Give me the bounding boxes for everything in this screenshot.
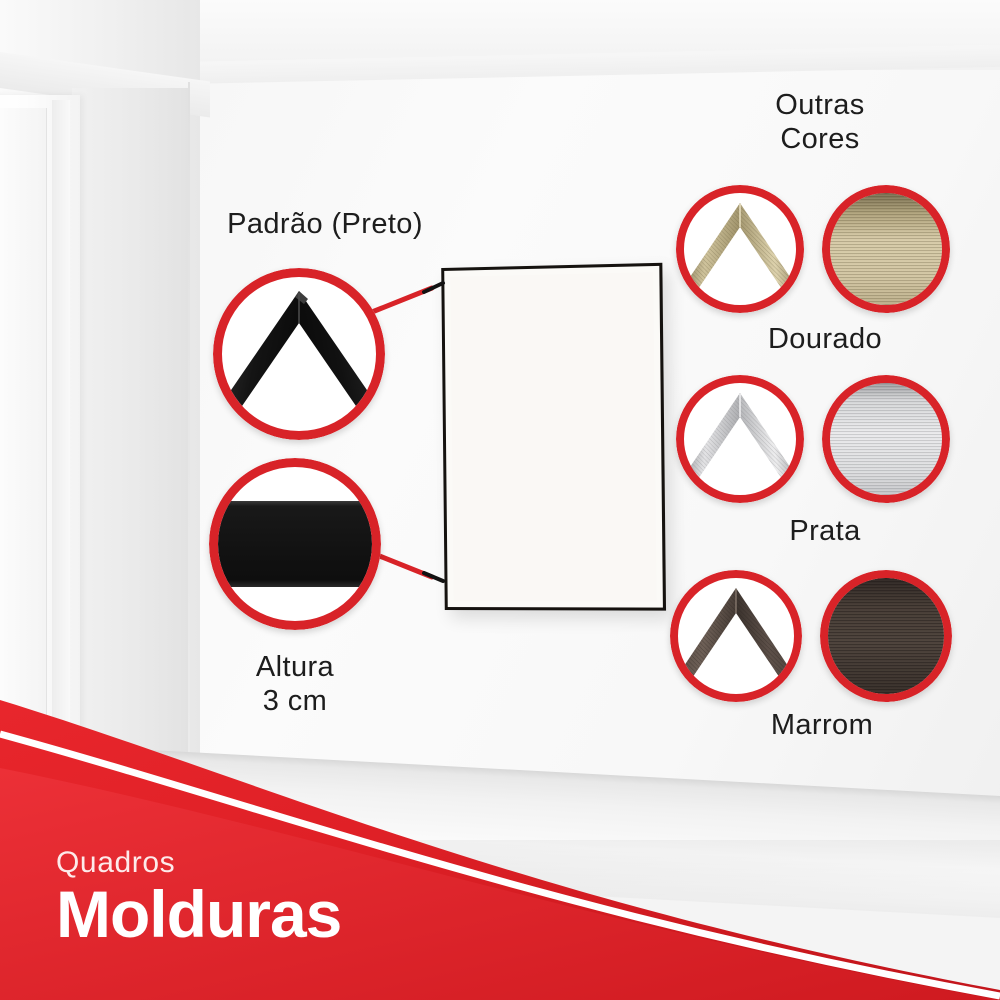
wall-picture-frame	[443, 268, 661, 610]
picture-frame-border	[441, 263, 666, 611]
label-dourado: Dourado	[695, 322, 955, 356]
prata-corner-art	[684, 383, 796, 495]
label-padrao-preto: Padrão (Preto)	[150, 207, 500, 241]
label-prata: Prata	[695, 514, 955, 548]
altura-profile-art	[218, 467, 372, 621]
altura-profile-swatch[interactable]	[209, 458, 381, 630]
label-outras-line2: Cores	[690, 122, 950, 156]
marrom-texture-swatch[interactable]	[820, 570, 952, 702]
altura-black-band	[218, 501, 372, 587]
infographic-canvas: Padrão (Preto) Altura 3 cm Outras Cores …	[0, 0, 1000, 1000]
marrom-texture-art	[828, 578, 944, 694]
label-outras-cores: Outras Cores	[690, 88, 950, 156]
padrao-preto-corner-swatch[interactable]	[213, 268, 385, 440]
prata-texture-swatch[interactable]	[822, 375, 950, 503]
dourado-corner-swatch[interactable]	[676, 185, 804, 313]
dourado-texture-swatch[interactable]	[822, 185, 950, 313]
dourado-texture-art	[830, 193, 942, 305]
brand-main-label: Molduras	[56, 880, 341, 949]
padrao-preto-corner-art	[222, 277, 376, 431]
picture-mat	[450, 272, 656, 601]
brand-top-label: Quadros	[56, 848, 341, 878]
prata-texture-art	[830, 383, 942, 495]
label-outras-line1: Outras	[690, 88, 950, 122]
marrom-corner-art	[678, 578, 794, 694]
prata-corner-swatch[interactable]	[676, 375, 804, 503]
marrom-corner-swatch[interactable]	[670, 570, 802, 702]
dourado-corner-art	[684, 193, 796, 305]
brand-lockup: Quadros Molduras	[56, 848, 341, 949]
